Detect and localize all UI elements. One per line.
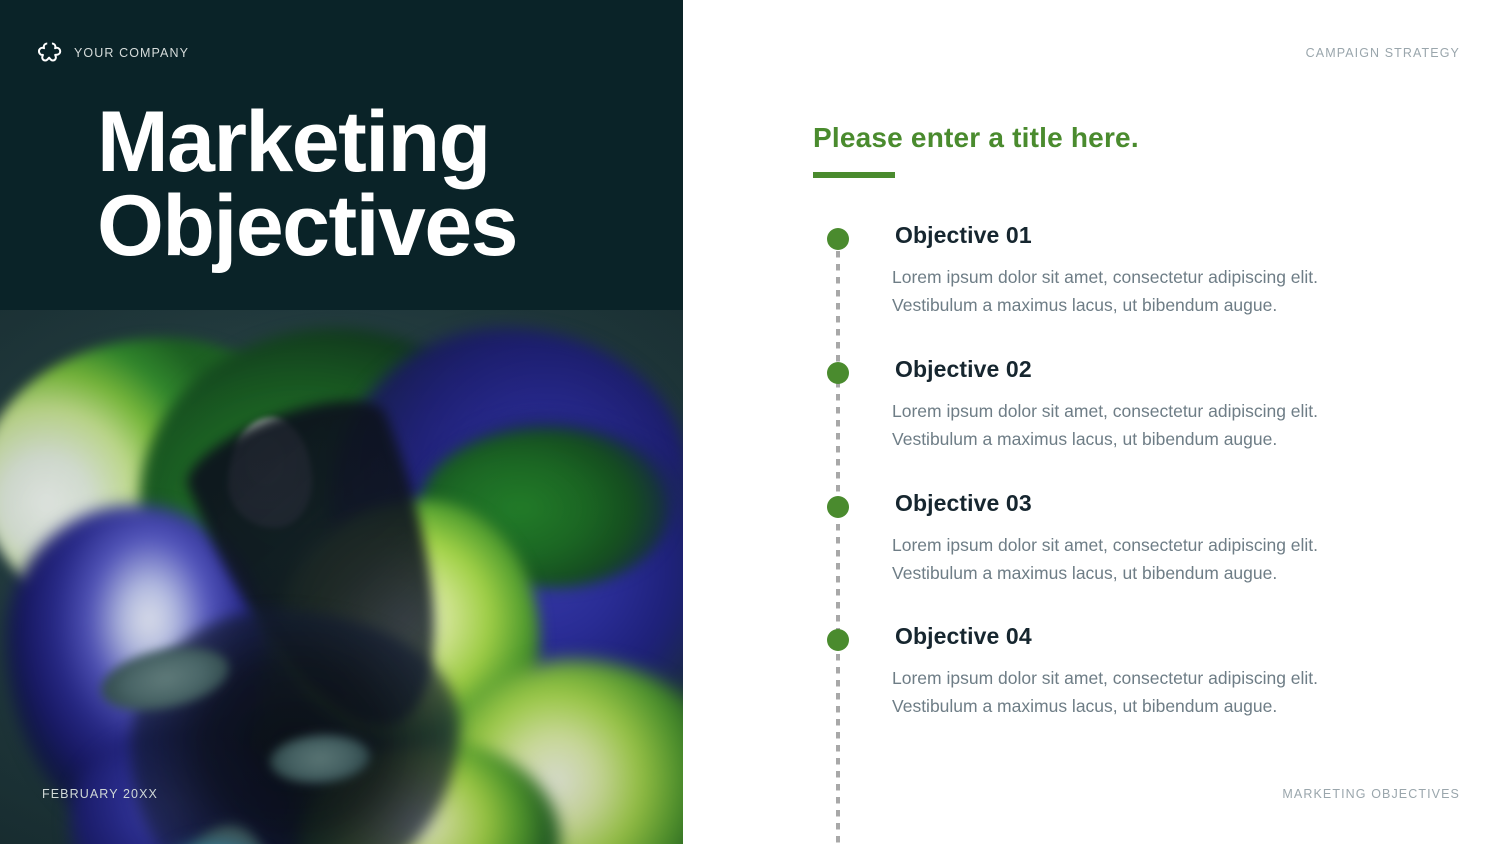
bullet-dot-icon xyxy=(827,496,849,518)
objective-heading: Objective 02 xyxy=(895,356,1032,383)
slide-canvas: YOUR COMPANY Marketing Objectives FEBRUA… xyxy=(0,0,1500,844)
objective-body: Lorem ipsum dolor sit amet, consectetur … xyxy=(892,531,1372,588)
objective-heading: Objective 04 xyxy=(895,623,1032,650)
objective-body: Lorem ipsum dolor sit amet, consectetur … xyxy=(892,664,1372,721)
title-underline-rule xyxy=(813,172,895,178)
bullet-dot-icon xyxy=(827,629,849,651)
section-title[interactable]: Please enter a title here. xyxy=(813,122,1139,154)
date-label: FEBRUARY 20XX xyxy=(42,787,158,801)
bullet-dot-icon xyxy=(827,228,849,250)
page-title-line-2: Objectives xyxy=(97,184,657,268)
page-title-line-1: Marketing xyxy=(97,100,657,184)
footer-note-label: MARKETING OBJECTIVES xyxy=(1282,787,1460,801)
abstract-artwork-image xyxy=(0,310,683,844)
timeline-dotted-connector xyxy=(836,238,840,844)
kicker-label: CAMPAIGN STRATEGY xyxy=(1306,46,1460,60)
brand-name-label: YOUR COMPANY xyxy=(74,46,189,60)
brand-lockup: YOUR COMPANY xyxy=(38,40,189,65)
left-panel: YOUR COMPANY Marketing Objectives FEBRUA… xyxy=(0,0,683,844)
objective-heading: Objective 01 xyxy=(895,222,1032,249)
objectives-timeline: Objective 01 Lorem ipsum dolor sit amet,… xyxy=(813,205,1500,844)
objective-body: Lorem ipsum dolor sit amet, consectetur … xyxy=(892,397,1372,454)
right-panel: CAMPAIGN STRATEGY Please enter a title h… xyxy=(683,0,1500,844)
bullet-dot-icon xyxy=(827,362,849,384)
objective-body: Lorem ipsum dolor sit amet, consectetur … xyxy=(892,263,1372,320)
clover-logo-icon xyxy=(38,40,63,65)
objective-heading: Objective 03 xyxy=(895,490,1032,517)
page-title: Marketing Objectives xyxy=(97,100,657,269)
